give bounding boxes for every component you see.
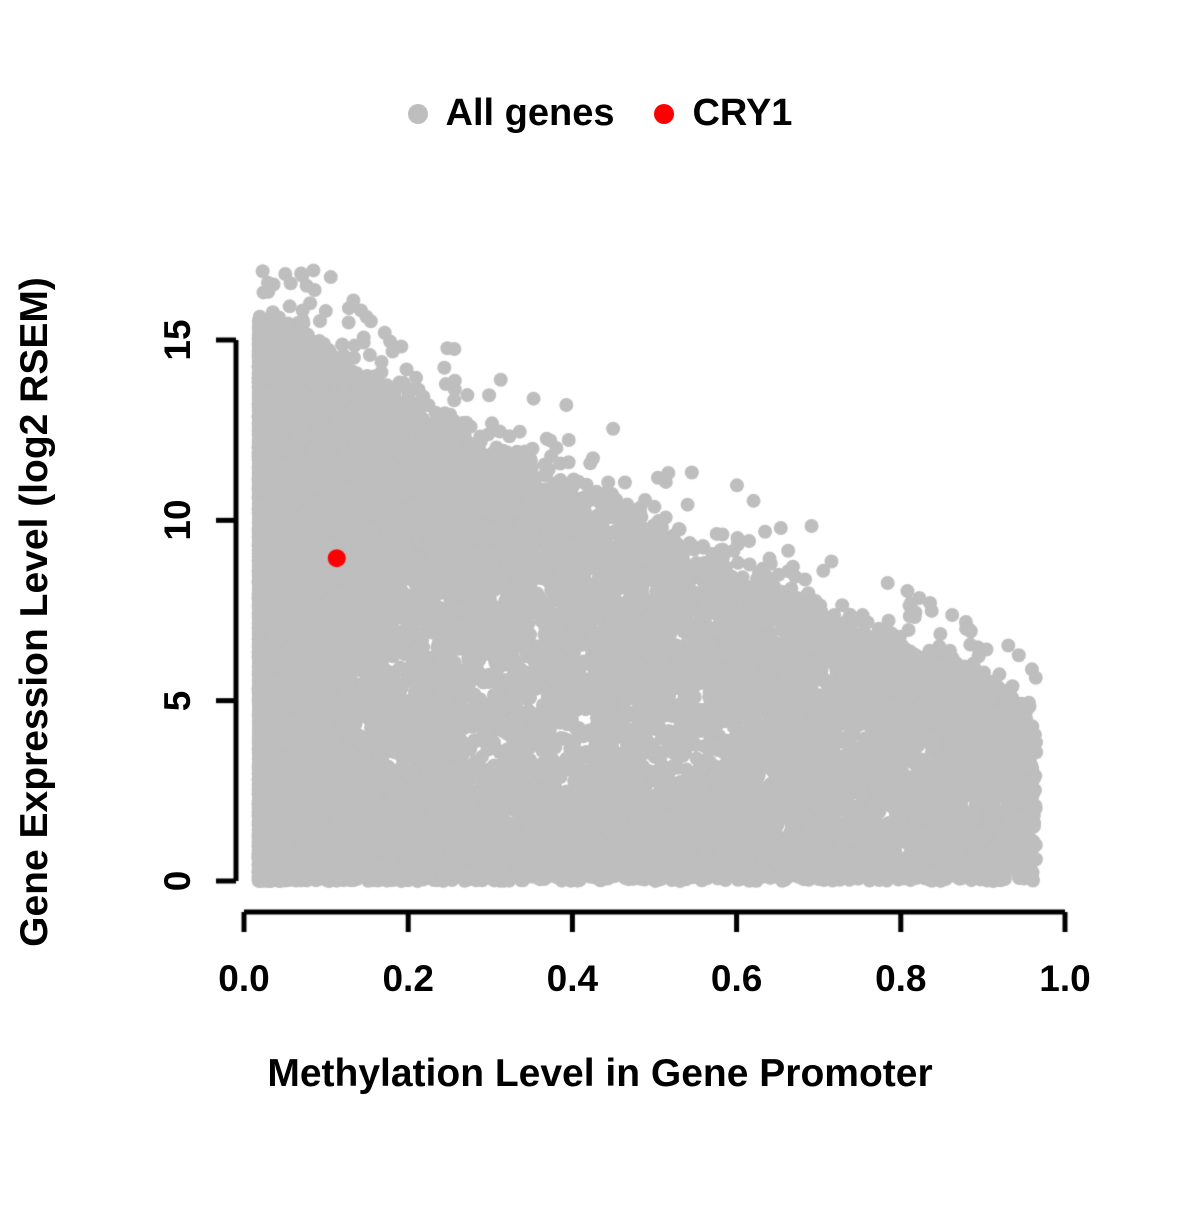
- scatter-plot-canvas: [0, 0, 1200, 1200]
- x-tick-label: 0.8: [875, 958, 926, 1000]
- x-tick-label: 1.0: [1039, 958, 1090, 1000]
- x-tick-label: 0.6: [711, 958, 762, 1000]
- y-tick-label: 15: [157, 319, 199, 360]
- x-tick-label: 0.4: [547, 958, 598, 1000]
- y-tick-label: 0: [157, 871, 199, 892]
- x-axis-title: Methylation Level in Gene Promoter: [0, 1052, 1200, 1096]
- x-tick-label: 0.0: [218, 958, 269, 1000]
- y-tick-label: 5: [157, 690, 199, 711]
- x-tick-label: 0.2: [382, 958, 433, 1000]
- scatter-plot-figure: All genes CRY1 Methylation Level in Gene…: [0, 0, 1200, 1200]
- y-tick-label: 10: [157, 500, 199, 541]
